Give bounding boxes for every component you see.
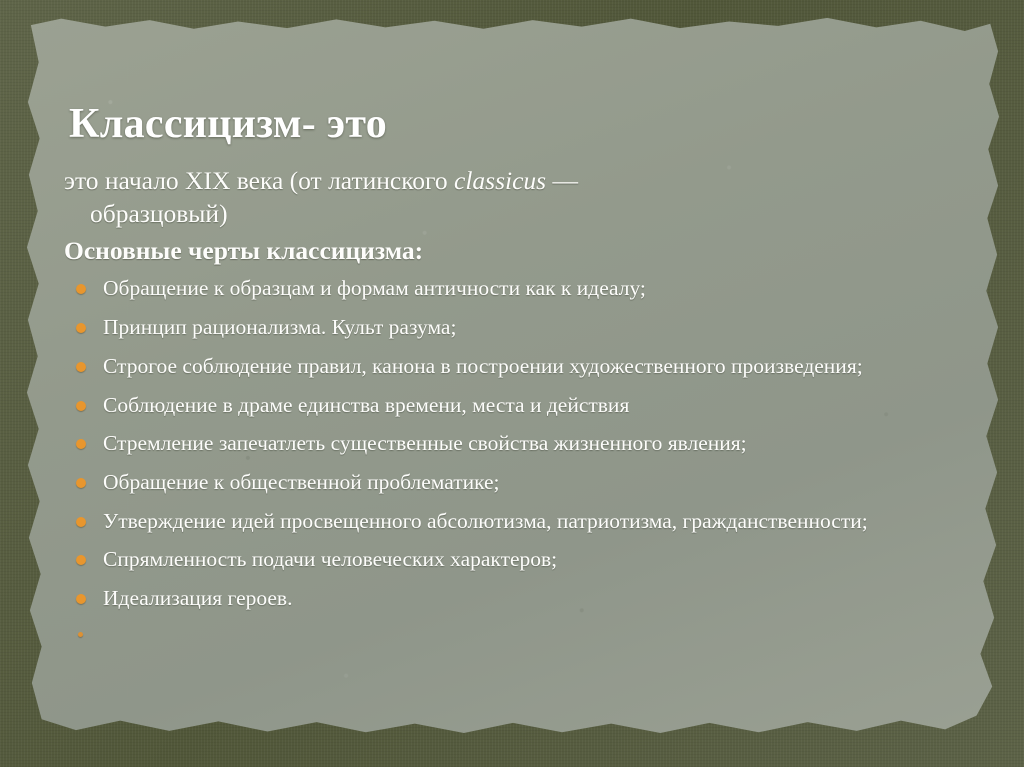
list-item: Спрямленность подачи человеческих характ… xyxy=(64,546,969,572)
slide-body: это начало XIX века (от латинского class… xyxy=(64,165,969,650)
features-subheading: Основные черты классицизма: xyxy=(64,234,969,267)
definition-paragraph: это начало XIX века (от латинского class… xyxy=(64,165,969,230)
features-list: Обращение к образцам и формам античности… xyxy=(64,275,969,637)
bullet-dot-icon xyxy=(78,632,83,637)
list-item-label: Идеализация героев. xyxy=(103,586,292,610)
definition-text-continued: образцовый) xyxy=(64,198,969,231)
list-item: Принцип рационализма. Культ разума; xyxy=(64,314,969,340)
definition-dash: — xyxy=(546,166,578,195)
bullet-dot-icon xyxy=(76,478,86,488)
list-item: Идеализация героев. xyxy=(64,585,969,611)
page-title: Классицизм- это xyxy=(69,101,949,147)
latin-term: classicus xyxy=(454,166,546,195)
bullet-dot-icon xyxy=(76,439,86,449)
bullet-dot-icon xyxy=(76,284,86,294)
list-item: Соблюдение в драме единства времени, мес… xyxy=(64,392,969,418)
list-item-label: Строгое соблюдение правил, канона в пост… xyxy=(103,354,863,378)
list-item-label: Утверждение идей просвещенного абсолютиз… xyxy=(103,509,868,533)
list-item: Стремление запечатлеть существенные свой… xyxy=(64,430,969,456)
list-item-label: Соблюдение в драме единства времени, мес… xyxy=(103,393,629,417)
list-item-label: Обращение к общественной проблематике; xyxy=(103,470,500,494)
slide-content: Классицизм- это это начало XIX века (от … xyxy=(22,15,1004,741)
list-item-label: Стремление запечатлеть существенные свой… xyxy=(103,431,747,455)
bullet-dot-icon xyxy=(76,362,86,372)
bullet-dot-icon xyxy=(76,517,86,527)
list-item-label: Спрямленность подачи человеческих характ… xyxy=(103,547,557,571)
slide-canvas: Классицизм- это это начало XIX века (от … xyxy=(0,0,1024,767)
bullet-dot-icon xyxy=(76,323,86,333)
bullet-dot-icon xyxy=(76,555,86,565)
bullet-dot-icon xyxy=(76,401,86,411)
list-item: Обращение к общественной проблематике; xyxy=(64,469,969,495)
list-item: Утверждение идей просвещенного абсолютиз… xyxy=(64,508,969,534)
definition-text-start: это начало XIX века (от латинского xyxy=(64,166,454,195)
list-item: Строгое соблюдение правил, канона в пост… xyxy=(64,353,969,379)
bullet-dot-icon xyxy=(76,594,86,604)
list-item-label: Обращение к образцам и формам античности… xyxy=(103,276,646,300)
list-item: Обращение к образцам и формам античности… xyxy=(64,275,969,301)
list-item-label: Принцип рационализма. Культ разума; xyxy=(103,315,456,339)
list-item-empty xyxy=(64,624,969,638)
